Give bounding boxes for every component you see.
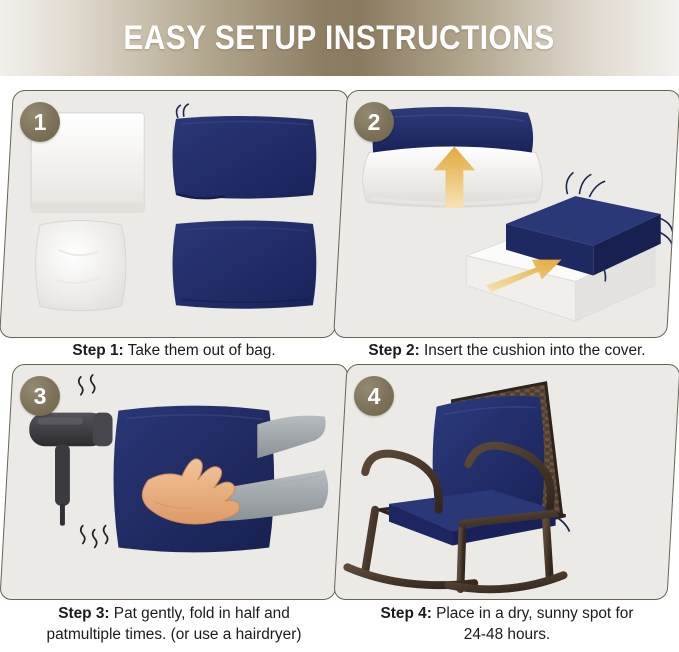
step-2-cell: 2 <box>340 90 674 338</box>
arm-upper <box>257 416 325 459</box>
step-4-label: Step 4: <box>381 605 432 622</box>
step-4-cell: 4 <box>340 364 674 600</box>
step-1-badge: 1 <box>20 102 60 142</box>
motion-squiggles <box>79 375 108 548</box>
step-4-badge: 4 <box>354 376 394 416</box>
step-1-caption: Step 1: Take them out of bag. <box>6 340 342 361</box>
steps-grid: 1 Step 1: Take them out of bag. <box>0 76 679 652</box>
navy-cover-seat <box>173 220 317 308</box>
hairdryer-icon <box>29 413 112 526</box>
step-1-text: Take them out of bag. <box>124 342 276 359</box>
navy-cover-back <box>173 104 317 199</box>
step-2-caption: Step 2: Insert the cushion into the cove… <box>340 340 674 361</box>
step-2-badge: 2 <box>354 102 394 142</box>
navy-cover-sliding-onto-pillow <box>373 107 534 153</box>
step-2-label: Step 2: <box>368 342 419 359</box>
step-3-text-line1: Pat gently, fold in half and <box>110 605 290 622</box>
white-pillow-insert <box>36 220 126 310</box>
step-3-caption: Step 3: Pat gently, fold in half and pat… <box>6 603 342 645</box>
step-4-text-line2: 24-48 hours. <box>340 624 674 645</box>
header-banner: EASY SETUP INSTRUCTIONS <box>0 0 679 76</box>
step-4-caption: Step 4: Place in a dry, sunny spot for 2… <box>340 603 674 645</box>
step-1-cell: 1 <box>6 90 342 338</box>
cover-ties <box>566 172 605 197</box>
step-4-text-line1: Place in a dry, sunny spot for <box>432 605 634 622</box>
step-3-badge: 3 <box>20 376 60 416</box>
step-3-label: Step 3: <box>58 605 109 622</box>
step-2-text: Insert the cushion into the cover. <box>420 342 646 359</box>
cover-tie <box>177 104 189 118</box>
page-title: EASY SETUP INSTRUCTIONS <box>124 19 555 58</box>
step-1-label: Step 1: <box>72 342 123 359</box>
step-3-text-line2: patmultiple times. (or use a hairdryer) <box>6 624 342 645</box>
step-3-cell: 3 <box>6 364 342 600</box>
